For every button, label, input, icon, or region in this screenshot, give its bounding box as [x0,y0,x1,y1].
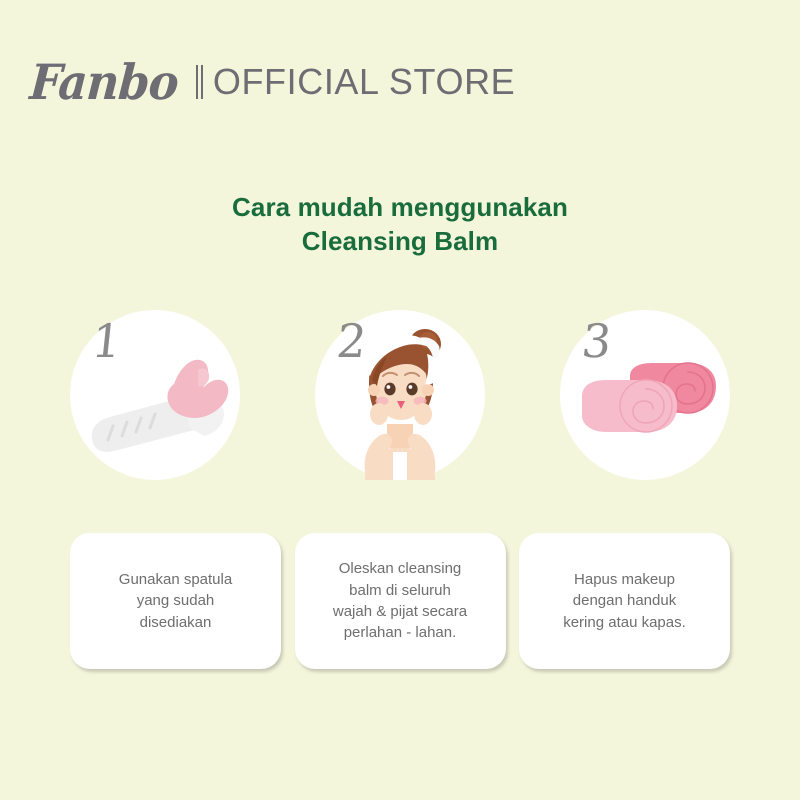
spatula-with-balm-icon [70,310,240,480]
step-circle-3: 3 [560,310,730,480]
caption-text-3: Hapus makeup dengan handuk kering atau k… [563,569,686,633]
caption-card-3: Hapus makeup dengan handuk kering atau k… [519,533,730,669]
page-title-line-2: Cleansing Balm [0,224,800,258]
page-title-line-1: Cara mudah menggunakan [0,190,800,224]
rolled-towels-icon [560,310,730,480]
step-circle-2: 2 [315,310,485,480]
brand-header: Fanbo OFFICIAL STORE [30,52,515,112]
page-title: Cara mudah menggunakan Cleansing Balm [0,190,800,259]
steps-illustration-row: 1 [70,310,730,482]
caption-text-1: Gunakan spatula yang sudah disediakan [119,569,232,633]
caption-text-2: Oleskan cleansing balm di seluruh wajah … [333,558,467,643]
fanbo-logo: Fanbo [28,58,183,107]
caption-card-2: Oleskan cleansing balm di seluruh wajah … [295,533,506,669]
woman-massaging-face-icon [315,310,485,480]
double-bar-icon [196,65,203,99]
caption-cards-row: Gunakan spatula yang sudah disediakan Ol… [70,533,730,669]
step-circle-1: 1 [70,310,240,480]
caption-card-1: Gunakan spatula yang sudah disediakan [70,533,281,669]
official-store-label: OFFICIAL STORE [213,64,515,100]
